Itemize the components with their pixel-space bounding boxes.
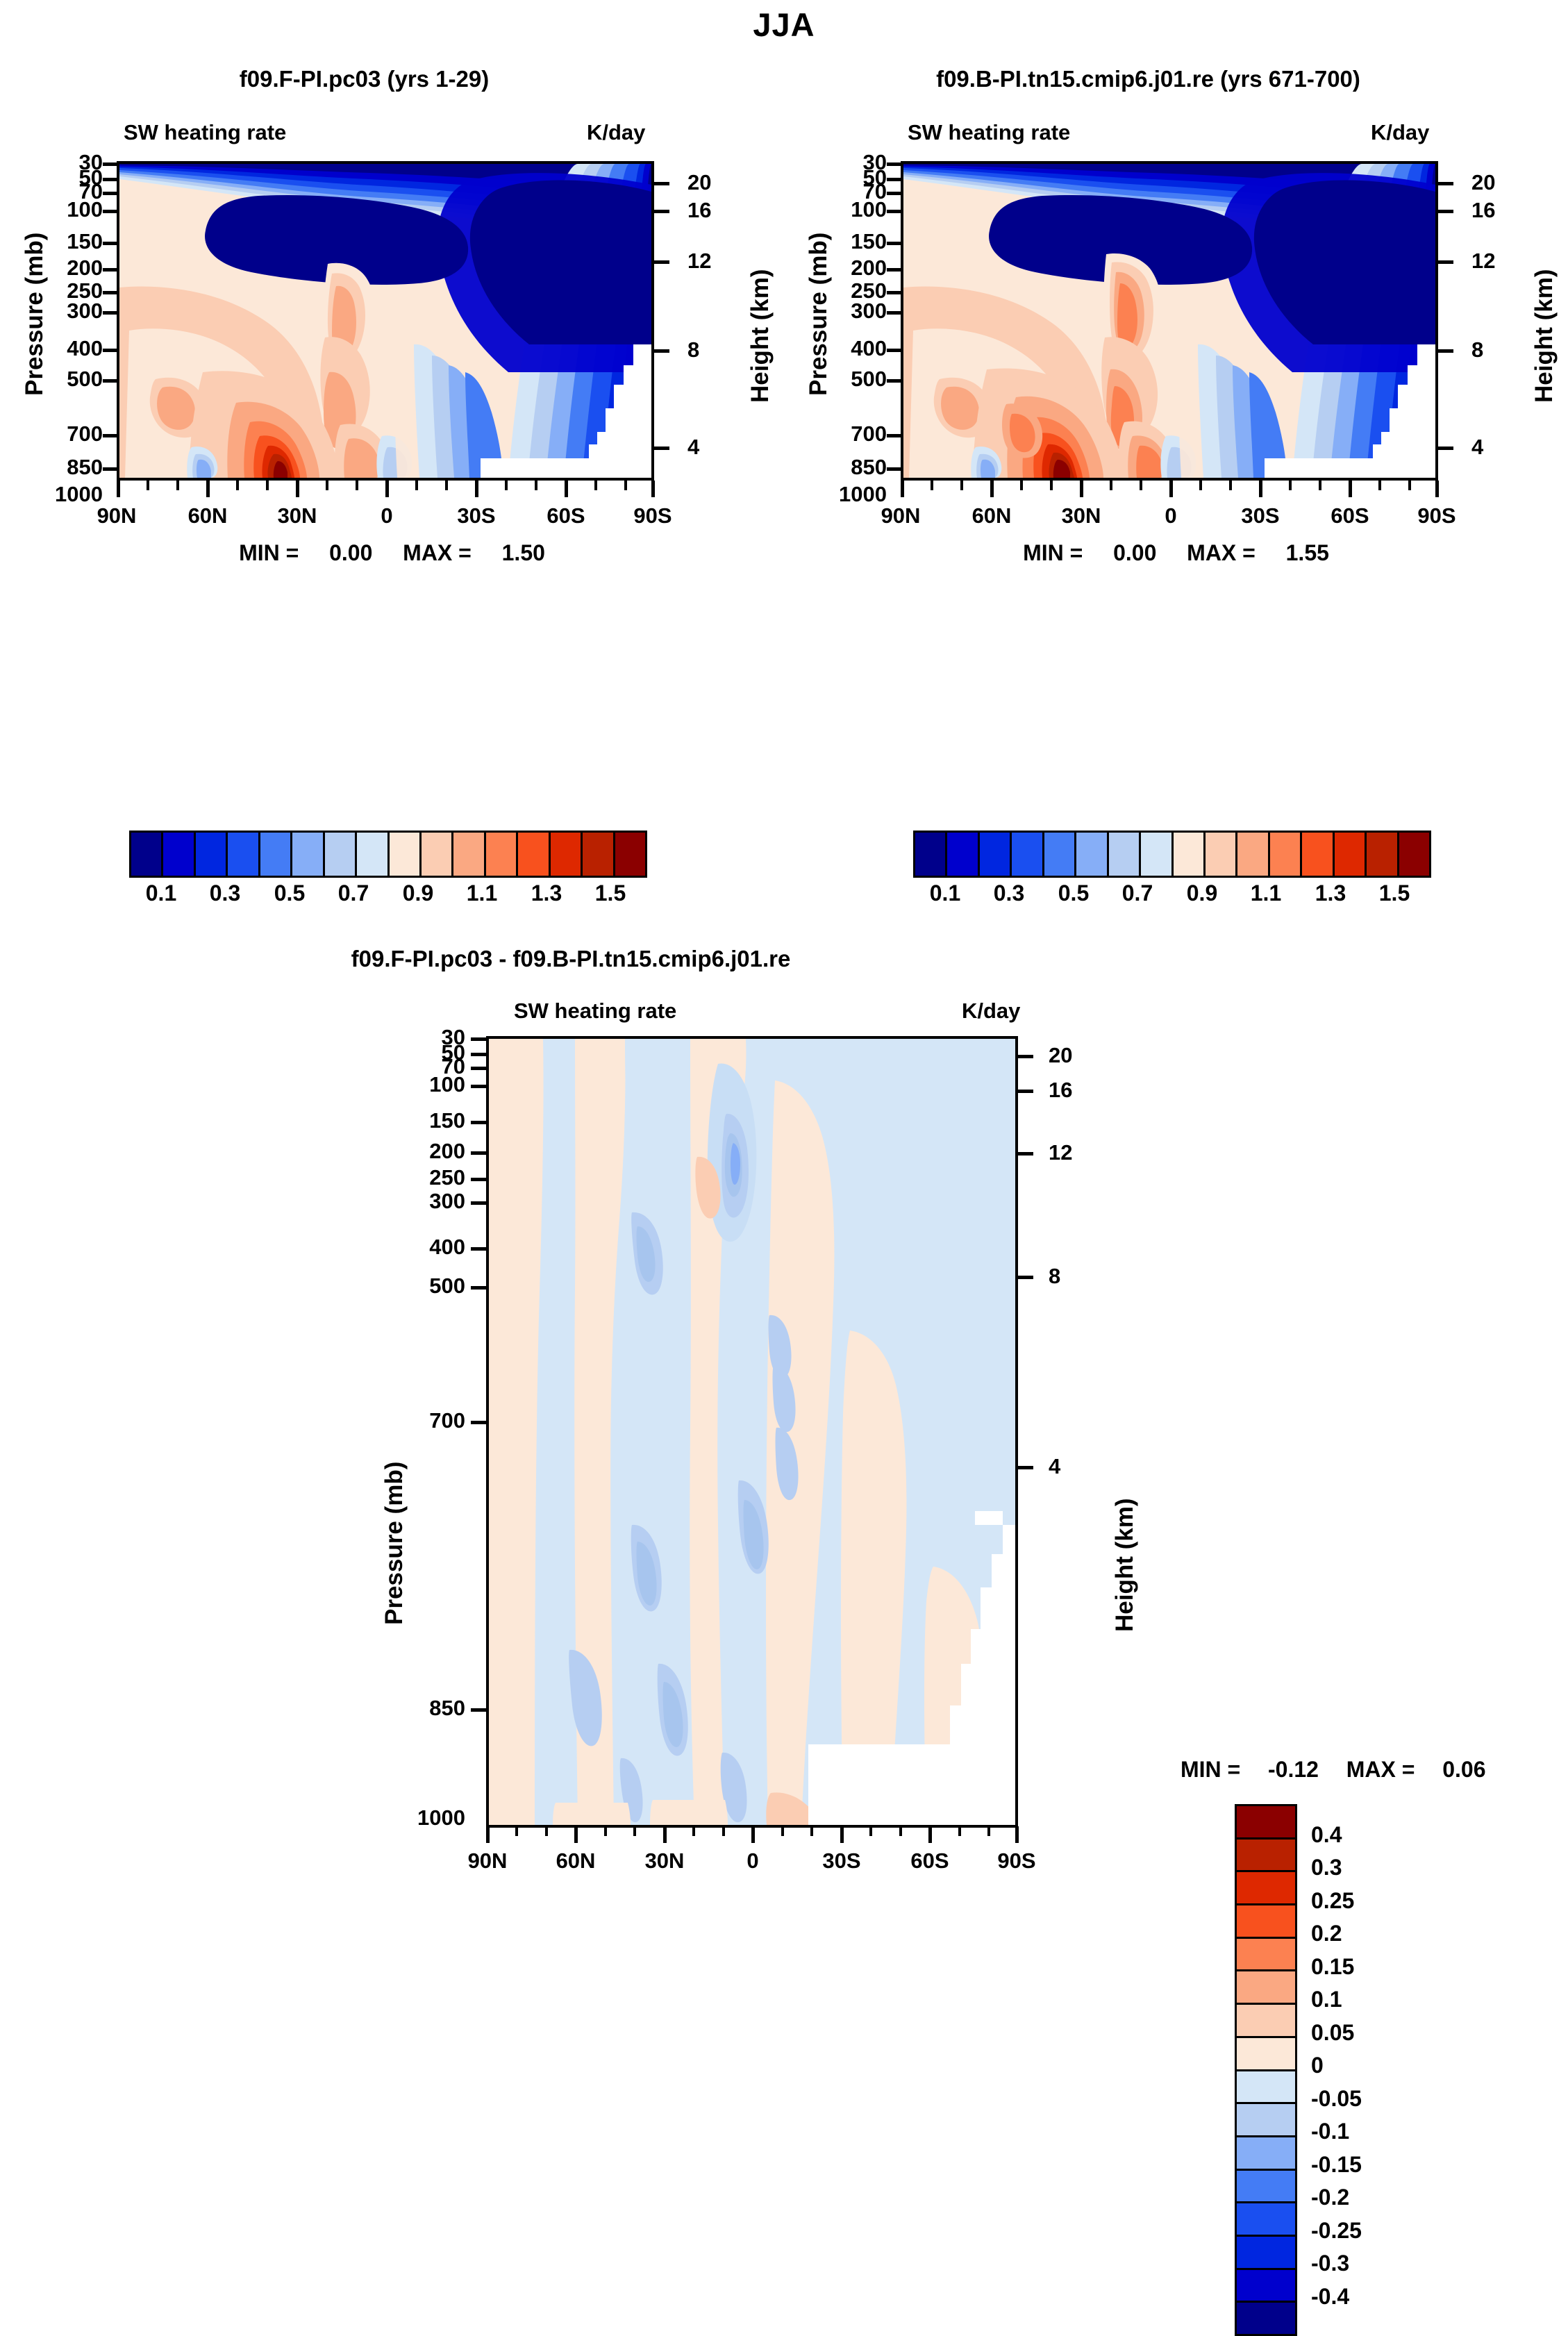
diff-colorbar-cell-13 [1237,2237,1295,2270]
diff-colorbar-cell-2 [1237,1872,1295,1905]
panel-case2-pressure-tick-100: 100 [810,197,887,222]
diff-colorbar-label-14: -0.4 [1311,2284,1349,2310]
panel-case2-xtick-minor [1229,481,1232,490]
panel-case2-min-value: 0.00 [1113,540,1156,565]
panel-case1-xtick-minor [147,481,149,490]
panel-case1-xtick-minor [624,481,627,490]
panel-case1-xtick-minor [266,481,269,490]
colorbar-cell-11 [486,833,518,876]
panel-case2-lat-tick-90N: 90N [866,503,935,528]
panel-case2-ytick [887,210,902,213]
panel-case2-xtick-minor [1289,481,1292,490]
panel-case1-xtick-minor [505,481,508,490]
panel-case1-min-value: 0.00 [329,540,372,565]
panel-diff-variable-label: SW heating rate [514,999,676,1024]
panel-case1-pressure-tick-850: 850 [26,455,103,480]
panel-case1-variable-label: SW heating rate [124,120,286,145]
panel-case2-height-tick-12: 12 [1471,249,1495,274]
colorbar-cell-5 [292,833,324,876]
panel-case2-xtick-minor [1140,481,1142,490]
panel-case1-ytick [103,192,118,195]
panel-diff-ytick-right [1018,1090,1033,1093]
diff-colorbar-cell-7 [1237,2038,1295,2071]
panel-case1-minmax: MIN = 0.00 MAX = 1.50 [0,540,784,566]
panel-diff-height-tick-8: 8 [1049,1264,1060,1289]
panel-case2-lat-tick-0: 0 [1136,503,1206,528]
panel-case1-xtick-minor [415,481,418,490]
panel-case2-ytick [887,291,902,294]
panel-diff-xtick-major [751,1826,755,1843]
panel-diff-ytick [471,1201,486,1205]
panel-diff-pressure-tick-200: 200 [389,1139,465,1164]
diff-colorbar-cell-5 [1237,1971,1295,2005]
colorbar-cell-9 [422,833,453,876]
panel-diff-lat-tick-30N: 30N [630,1849,699,1874]
diff-colorbar-cell-8 [1237,2071,1295,2105]
panel-case2-xtick-minor [1110,481,1112,490]
panel-case1-ytick [103,467,118,471]
panel-diff-ytick [471,1067,486,1070]
panel-case1-xtick-minor [176,481,179,490]
panel-case2-ytick [887,178,902,181]
panel-diff-max-value: 0.06 [1442,1757,1485,1782]
colorbar-cell-8 [1174,833,1206,876]
colorbar-cell-12 [1302,833,1334,876]
panel-case1-height-tick-20: 20 [687,170,711,195]
panel-case2-ytick [887,434,902,437]
panel-diff-xtick-minor [722,1826,725,1836]
panel-case2-ytick [887,162,902,166]
diff-colorbar-label-3: 0.2 [1311,1921,1342,1946]
diff-colorbar-label-0: 0.4 [1311,1822,1342,1848]
panel-diff-xtick-minor [692,1826,695,1836]
colorbar-cell-10 [453,833,485,876]
panel-case2-ytick-right [1438,349,1453,353]
panel-case1-max-label: MAX = [403,540,472,565]
panel-case1-lat-tick-90S: 90S [618,503,687,528]
colorbar-cell-12 [518,833,550,876]
cbar2-lab-5: 1.1 [1234,881,1298,906]
panel-case2-plot[interactable] [901,161,1438,481]
panel-diff-ytick-right [1018,1466,1033,1469]
panel-diff-xtick-minor [633,1826,636,1836]
panel-diff-ytick-right [1018,1055,1033,1058]
cbar2-lab-3: 0.7 [1106,881,1169,906]
panel-diff-ytick [471,1286,486,1290]
colorbar-cell-14 [1367,833,1399,876]
panel-case1-y-axis-label: Pressure (mb) [21,233,49,396]
panel-case1-y2-axis-label: Height (km) [747,269,774,403]
panel-case1-ytick [103,162,118,166]
panel-case1-min-label: MIN = [239,540,299,565]
panel-diff-xtick-major [574,1826,578,1843]
panel-case1-colorbar[interactable] [129,831,647,878]
panel-diff-pressure-tick-700: 700 [389,1408,465,1433]
panel-diff-min-value: -0.12 [1268,1757,1319,1782]
colorbar-cell-5 [1076,833,1108,876]
panel-case1-colorbar-labels: 0.1 0.3 0.5 0.7 0.9 1.1 1.3 1.5 [129,881,643,914]
panel-case2-xtick-minor [1050,481,1053,490]
panel-diff-lat-tick-0: 0 [718,1849,787,1874]
panel-case1-ytick [103,268,118,272]
colorbar-cell-4 [1044,833,1076,876]
panel-case1-xtick-major [651,481,655,497]
panel-diff-pressure-tick-400: 400 [389,1235,465,1260]
panel-diff-xtick-minor [958,1826,961,1836]
colorbar-cell-7 [357,833,389,876]
diff-colorbar-cell-0 [1237,1806,1295,1839]
panel-case2-ytick [887,268,902,272]
panel-case1-xtick-major [475,481,478,497]
cbar2-lab-7: 1.5 [1362,881,1426,906]
panel-case2-xtick-major [1169,481,1173,497]
panel-case1-lat-tick-60S: 60S [531,503,601,528]
panel-diff-y2-axis-label: Height (km) [1111,1499,1139,1633]
panel-case1-max-value: 1.50 [502,540,545,565]
panel-diff: f09.F-PI.pc03 - f09.B-PI.tn15.cmip6.j01.… [0,924,1568,1655]
panel-diff-max-label: MAX = [1346,1757,1415,1782]
diff-colorbar-cell-15 [1237,2303,1295,2334]
colorbar-cell-2 [980,833,1012,876]
panel-case1-ytick [103,311,118,315]
panel-case2-xtick-major [1349,481,1352,497]
panel-case1-ytick [103,434,118,437]
panel-diff-ytick-right [1018,1152,1033,1156]
diff-colorbar-cell-6 [1237,2005,1295,2038]
panel-case1-height-tick-8: 8 [687,337,699,362]
panel-diff-xtick-minor [987,1826,990,1836]
panel-case1-pressure-tick-100: 100 [26,197,103,222]
panel-diff-pressure-tick-100: 100 [389,1072,465,1097]
panel-case2: f09.B-PI.tn15.cmip6.j01.re (yrs 671-700)… [784,0,1568,924]
panel-diff-pressure-tick-500: 500 [389,1274,465,1299]
panel-case2-y2-axis-label: Height (km) [1531,269,1558,403]
diff-colorbar-label-12: -0.25 [1311,2218,1362,2244]
colorbar-cell-7 [1141,833,1173,876]
panel-case1-pressure-tick-700: 700 [26,422,103,447]
panel-case1-ytick [103,210,118,213]
colorbar-cell-10 [1237,833,1269,876]
panel-case2-xtick-minor [960,481,963,490]
colorbar-cell-9 [1206,833,1237,876]
panel-diff-xtick-minor [781,1826,784,1836]
colorbar-cell-11 [1270,833,1302,876]
panel-case1-height-tick-4: 4 [687,435,699,460]
colorbar-cell-13 [551,833,583,876]
panel-case1-ytick [103,178,118,181]
panel-case1-ytick [103,242,118,245]
panel-diff-y-axis-label: Pressure (mb) [381,1462,408,1625]
panel-case2-colorbar-labels: 0.1 0.3 0.5 0.7 0.9 1.1 1.3 1.5 [913,881,1427,914]
panel-case1-xtick-major [565,481,568,497]
colorbar-cell-6 [1109,833,1141,876]
diff-colorbar-cell-12 [1237,2203,1295,2237]
panel-case2-lat-tick-30N: 30N [1046,503,1116,528]
cbar2-lab-1: 0.3 [977,881,1041,906]
panel-diff-colorbar-labels: 0.40.30.250.20.150.10.050-0.05-0.1-0.15-… [1311,1804,1492,2332]
cbar-lab-6: 1.3 [515,881,578,906]
cbar-lab-2: 0.5 [258,881,322,906]
cbar-lab-7: 1.5 [578,881,642,906]
panel-case2-xtick-major [901,481,904,497]
diff-colorbar-label-8: -0.05 [1311,2086,1362,2112]
panel-diff-ytick-right [1018,1276,1033,1279]
panel-diff-xtick-minor [545,1826,548,1836]
panel-case1-title: f09.F-PI.pc03 (yrs 1-29) [0,66,756,92]
panel-diff-lat-tick-60N: 60N [541,1849,610,1874]
panel-case1-xtick-minor [445,481,448,490]
panel-diff-lat-tick-90S: 90S [982,1849,1051,1874]
colorbar-cell-1 [947,833,979,876]
diff-colorbar-cell-1 [1237,1839,1295,1873]
panel-case1-lat-tick-30N: 30N [262,503,332,528]
panel-diff-pressure-tick-150: 150 [389,1108,465,1133]
panel-diff-ytick [471,1121,486,1124]
diff-colorbar-cell-14 [1237,2270,1295,2303]
diff-colorbar-cell-9 [1237,2104,1295,2137]
panel-diff-height-tick-16: 16 [1049,1078,1072,1103]
panel-case2-ytick [887,349,902,352]
colorbar-cell-14 [583,833,615,876]
panel-case2-ytick-right [1438,260,1453,264]
colorbar-cell-3 [228,833,260,876]
panel-case2-pressure-tick-700: 700 [810,422,887,447]
panel-case1-ytick-right [654,260,669,264]
diff-colorbar-label-2: 0.25 [1311,1888,1354,1914]
cbar-lab-4: 0.9 [386,881,450,906]
panel-case1-xtick-minor [326,481,328,490]
panel-case1-height-tick-12: 12 [687,249,711,274]
panel-diff-ytick [471,1247,486,1251]
panel-case2-lat-tick-30S: 30S [1226,503,1295,528]
panel-diff-minmax: MIN = -0.12 MAX = 0.06 [1181,1757,1568,1783]
panel-case1-ytick [103,379,118,383]
panel-diff-ytick [471,1151,486,1155]
panel-diff-lat-tick-60S: 60S [895,1849,965,1874]
panel-diff-ytick [471,1708,486,1712]
diff-colorbar-cell-11 [1237,2171,1295,2204]
colorbar-cell-3 [1012,833,1044,876]
panel-diff-min-label: MIN = [1181,1757,1240,1782]
panel-case1-units-label: K/day [587,120,645,145]
diff-colorbar-label-4: 0.15 [1311,1954,1354,1980]
cbar2-lab-6: 1.3 [1299,881,1362,906]
diff-colorbar-label-1: 0.3 [1311,1855,1342,1880]
panel-diff-ytick [471,1085,486,1088]
diff-colorbar-label-6: 0.05 [1311,2020,1354,2046]
panel-case2-xtick-major [1259,481,1262,497]
panel-diff-xtick-major [840,1826,844,1843]
panel-case2-xtick-major [990,481,994,497]
diff-colorbar-label-10: -0.15 [1311,2152,1362,2178]
panel-diff-contour-field [489,1039,1015,1825]
panel-case1-xtick-major [206,481,210,497]
cbar-lab-5: 1.1 [450,881,514,906]
panel-diff-xtick-minor [810,1826,813,1836]
panel-case1: f09.F-PI.pc03 (yrs 1-29) SW heating rate… [0,0,784,924]
panel-case2-xtick-minor [1319,481,1321,490]
panel-diff-title: f09.F-PI.pc03 - f09.B-PI.tn15.cmip6.j01.… [0,946,1568,972]
diff-colorbar-label-11: -0.2 [1311,2185,1349,2210]
panel-case2-ytick [887,379,902,383]
panel-diff-ytick [471,1421,486,1424]
panel-case2-xtick-minor [1378,481,1381,490]
panel-diff-xtick-major [663,1826,667,1843]
cbar2-lab-4: 0.9 [1170,881,1234,906]
panel-case2-xtick-minor [1199,481,1202,490]
panel-case1-ytick-right [654,182,669,185]
panel-case1-xtick-major [385,481,389,497]
panel-case1-xtick-minor [356,481,358,490]
panel-case2-units-label: K/day [1371,120,1429,145]
colorbar-cell-2 [196,833,228,876]
panel-case2-lat-tick-90S: 90S [1402,503,1471,528]
diff-colorbar-cell-3 [1237,1905,1295,1939]
panel-case1-height-tick-16: 16 [687,198,711,223]
panel-case2-title: f09.B-PI.tn15.cmip6.j01.re (yrs 671-700) [756,66,1540,92]
panel-case2-ytick [887,192,902,195]
colorbar-cell-8 [390,833,422,876]
panel-case1-ytick-right [654,349,669,353]
panel-case1-lat-tick-0: 0 [352,503,422,528]
panel-case2-height-tick-20: 20 [1471,170,1495,195]
diff-colorbar-label-5: 0.1 [1311,1987,1342,2012]
panel-case2-xtick-minor [931,481,933,490]
panel-case1-xtick-major [117,481,120,497]
panel-diff-ytick [471,1053,486,1056]
colorbar-cell-0 [131,833,163,876]
colorbar-cell-13 [1335,833,1367,876]
panel-diff-xtick-major [486,1826,490,1843]
colorbar-cell-6 [325,833,357,876]
panel-diff-pressure-tick-300: 300 [389,1189,465,1214]
panel-diff-pressure-tick-850: 850 [389,1696,465,1721]
panel-case1-xtick-minor [236,481,239,490]
panel-case2-ytick-right [1438,447,1453,450]
colorbar-cell-0 [915,833,947,876]
panel-case1-lat-tick-90N: 90N [82,503,151,528]
panel-case2-colorbar[interactable] [913,831,1431,878]
panel-case1-xtick-major [296,481,299,497]
panel-diff-xtick-minor [869,1826,872,1836]
panel-diff-height-tick-4: 4 [1049,1454,1060,1479]
panel-diff-ytick [471,1178,486,1181]
panel-diff-lat-tick-30S: 30S [807,1849,876,1874]
panel-case2-ytick [887,242,902,245]
panel-diff-xtick-minor [604,1826,607,1836]
diff-colorbar-label-9: -0.1 [1311,2119,1349,2144]
panel-case2-xtick-major [1080,481,1083,497]
panel-case2-xtick-major [1435,481,1439,497]
panel-case2-xtick-minor [1408,481,1411,490]
cbar2-lab-0: 0.1 [913,881,977,906]
panel-diff-xtick-major [928,1826,932,1843]
panel-case2-ytick-right [1438,210,1453,213]
panel-case1-ytick [103,291,118,294]
panel-case2-lat-tick-60S: 60S [1315,503,1385,528]
panel-case1-contour-field [119,164,651,478]
panel-case2-variable-label: SW heating rate [908,120,1070,145]
panel-case1-plot[interactable] [117,161,654,481]
cbar2-lab-2: 0.5 [1042,881,1106,906]
panel-diff-lat-tick-90N: 90N [453,1849,522,1874]
cbar-lab-1: 0.3 [193,881,257,906]
panel-case2-contour-field [903,164,1435,478]
panel-case1-ytick-right [654,210,669,213]
panel-case2-minmax: MIN = 0.00 MAX = 1.55 [784,540,1568,566]
panel-case1-lat-tick-60N: 60N [173,503,242,528]
panel-case2-lat-tick-60N: 60N [957,503,1026,528]
diff-colorbar-cell-10 [1237,2137,1295,2171]
colorbar-cell-15 [615,833,645,876]
panel-case2-max-value: 1.55 [1286,540,1329,565]
cbar-lab-0: 0.1 [129,881,193,906]
panel-case1-xtick-minor [535,481,537,490]
panel-case2-height-tick-16: 16 [1471,198,1495,223]
panel-diff-xtick-minor [899,1826,902,1836]
colorbar-cell-1 [163,833,195,876]
panel-case2-ytick [887,311,902,315]
panel-diff-pressure-tick-1000: 1000 [382,1805,465,1830]
diff-colorbar-cell-4 [1237,1939,1295,1972]
cbar-lab-3: 0.7 [322,881,385,906]
panel-case2-height-tick-8: 8 [1471,337,1483,362]
panel-case2-max-label: MAX = [1187,540,1256,565]
panel-case2-min-label: MIN = [1023,540,1083,565]
panel-diff-plot[interactable] [486,1036,1018,1828]
panel-diff-height-tick-12: 12 [1049,1140,1072,1165]
diff-colorbar-label-13: -0.3 [1311,2251,1349,2276]
panel-case2-xtick-minor [1020,481,1023,490]
panel-diff-units-label: K/day [962,999,1020,1024]
panel-diff-pressure-tick-250: 250 [389,1165,465,1190]
panel-case2-ytick [887,467,902,471]
colorbar-cell-15 [1399,833,1429,876]
panel-case1-lat-tick-30S: 30S [442,503,511,528]
panel-case2-height-tick-4: 4 [1471,435,1483,460]
panel-case1-xtick-minor [594,481,597,490]
panel-diff-xtick-minor [515,1826,518,1836]
panel-diff-colorbar[interactable] [1235,1804,1297,2336]
panel-case1-ytick-right [654,447,669,450]
panel-diff-height-tick-20: 20 [1049,1043,1072,1068]
colorbar-cell-4 [260,833,292,876]
panel-diff-ytick [471,1037,486,1041]
panel-case2-ytick-right [1438,182,1453,185]
panel-case1-ytick [103,349,118,352]
panel-case2-y-axis-label: Pressure (mb) [805,233,833,396]
panel-diff-xtick-major [1015,1826,1019,1843]
panel-case2-pressure-tick-850: 850 [810,455,887,480]
diff-colorbar-label-7: 0 [1311,2053,1324,2078]
